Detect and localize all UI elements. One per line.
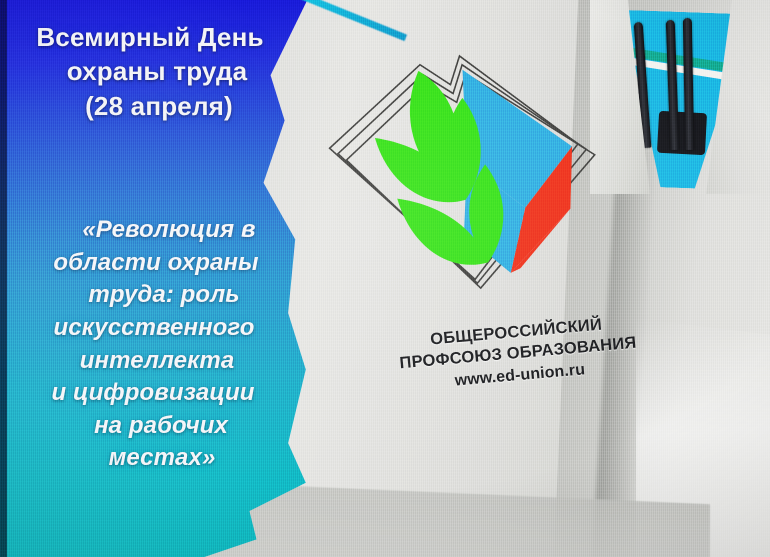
title-line-3: (28 апреля) <box>18 89 300 123</box>
quote-line-6: и цифровизации <box>0 377 308 410</box>
poster-photo: Всемирный День охраны труда (28 апреля) … <box>0 0 770 557</box>
quote-line-4: искусственного <box>0 312 308 345</box>
poster-theme-quote: «Революция в области охраны труда: роль … <box>0 214 308 475</box>
quote-line-3: труда: роль <box>20 279 308 312</box>
quote-line-8: местах» <box>16 442 308 475</box>
quote-line-1: «Революция в <box>30 214 308 247</box>
title-line-1: Всемирный День <box>36 22 263 52</box>
title-line-2: охраны труда <box>14 54 300 88</box>
education-union-emblem <box>309 34 617 322</box>
quote-line-7: на рабочих <box>14 410 308 443</box>
quote-line-2: области охраны <box>4 247 308 280</box>
poster-title: Всемирный День охраны труда (28 апреля) <box>0 20 300 123</box>
pens-in-holder <box>594 0 770 194</box>
pen-clip-block <box>657 111 707 155</box>
quote-line-5: интеллекта <box>6 345 308 378</box>
